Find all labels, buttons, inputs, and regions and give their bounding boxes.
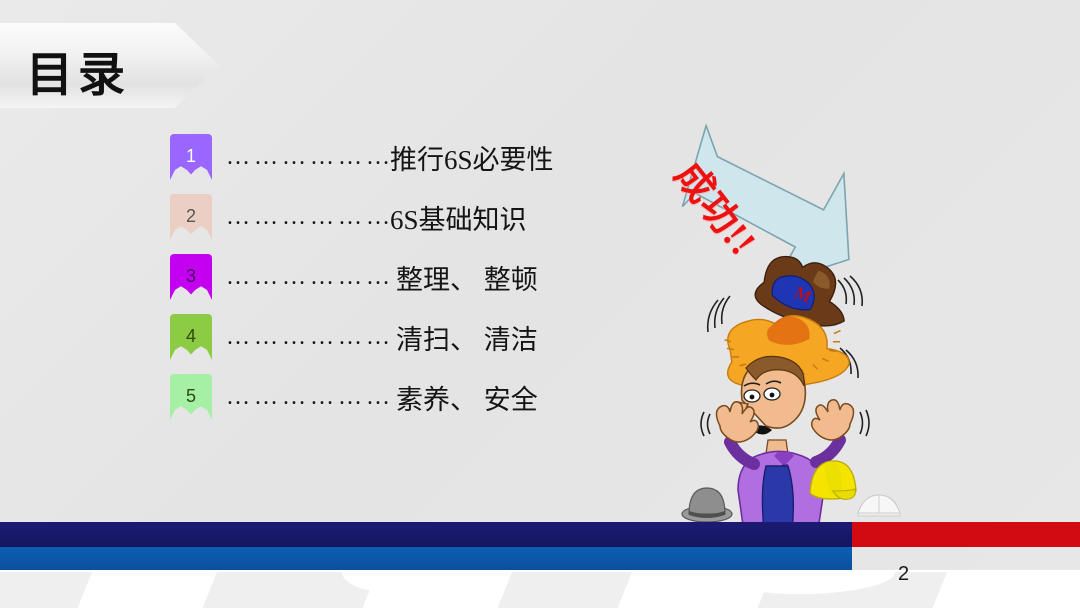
toc-item-number: 3 [186,266,196,287]
toc-item-4[interactable]: 4 ……………… 清扫、 清洁 [170,307,554,367]
footer-bar-blue [0,547,852,570]
paper-hat-icon [855,487,903,519]
leader-dots: ……………… [226,384,394,411]
slide-canvas: 目录 1 ……………… 推行6S必要性 2 ……………… 6S基础知识 3 ……… [0,0,1080,608]
bookmark-icon-1: 1 [170,134,212,180]
toc-item-2[interactable]: 2 ……………… 6S基础知识 [170,187,554,247]
page-title: 目录 [26,36,130,105]
toc-item-label: 清扫、 清洁 [396,318,538,357]
toc-item-number: 4 [186,326,196,347]
toc-item-label: 整理、 整顿 [396,258,538,297]
toc-list: 1 ……………… 推行6S必要性 2 ……………… 6S基础知识 3 ……………… [170,127,554,427]
footer-bar-navy [0,522,852,547]
leader-dots: ……………… [226,144,394,171]
bookmark-icon-2: 2 [170,194,212,240]
bowler-hat-icon [680,478,734,524]
toc-item-number: 2 [186,206,196,227]
leader-dots: ……………… [226,264,394,291]
decorative-shape [488,572,632,608]
bookmark-icon-4: 4 [170,314,212,360]
toc-item-3[interactable]: 3 ……………… 整理、 整顿 [170,247,554,307]
toc-item-label: 6S基础知识 [390,198,527,237]
toc-item-5[interactable]: 5 ……………… 素养、 安全 [170,367,554,427]
toc-item-number: 5 [186,386,196,407]
footer-background [0,570,1080,608]
toc-item-label: 素养、 安全 [396,378,538,417]
bookmark-icon-3: 3 [170,254,212,300]
footer-bar-red [852,522,1080,547]
toc-item-1[interactable]: 1 ……………… 推行6S必要性 [170,127,554,187]
page-number: 2 [898,563,909,586]
toc-item-number: 1 [186,146,196,167]
decorative-shape [0,572,92,608]
toc-item-label: 推行6S必要性 [390,138,554,177]
leader-dots: ……………… [226,324,394,351]
bookmark-icon-5: 5 [170,374,212,420]
hard-hat-icon [805,455,859,505]
leader-dots: ……………… [226,204,394,231]
